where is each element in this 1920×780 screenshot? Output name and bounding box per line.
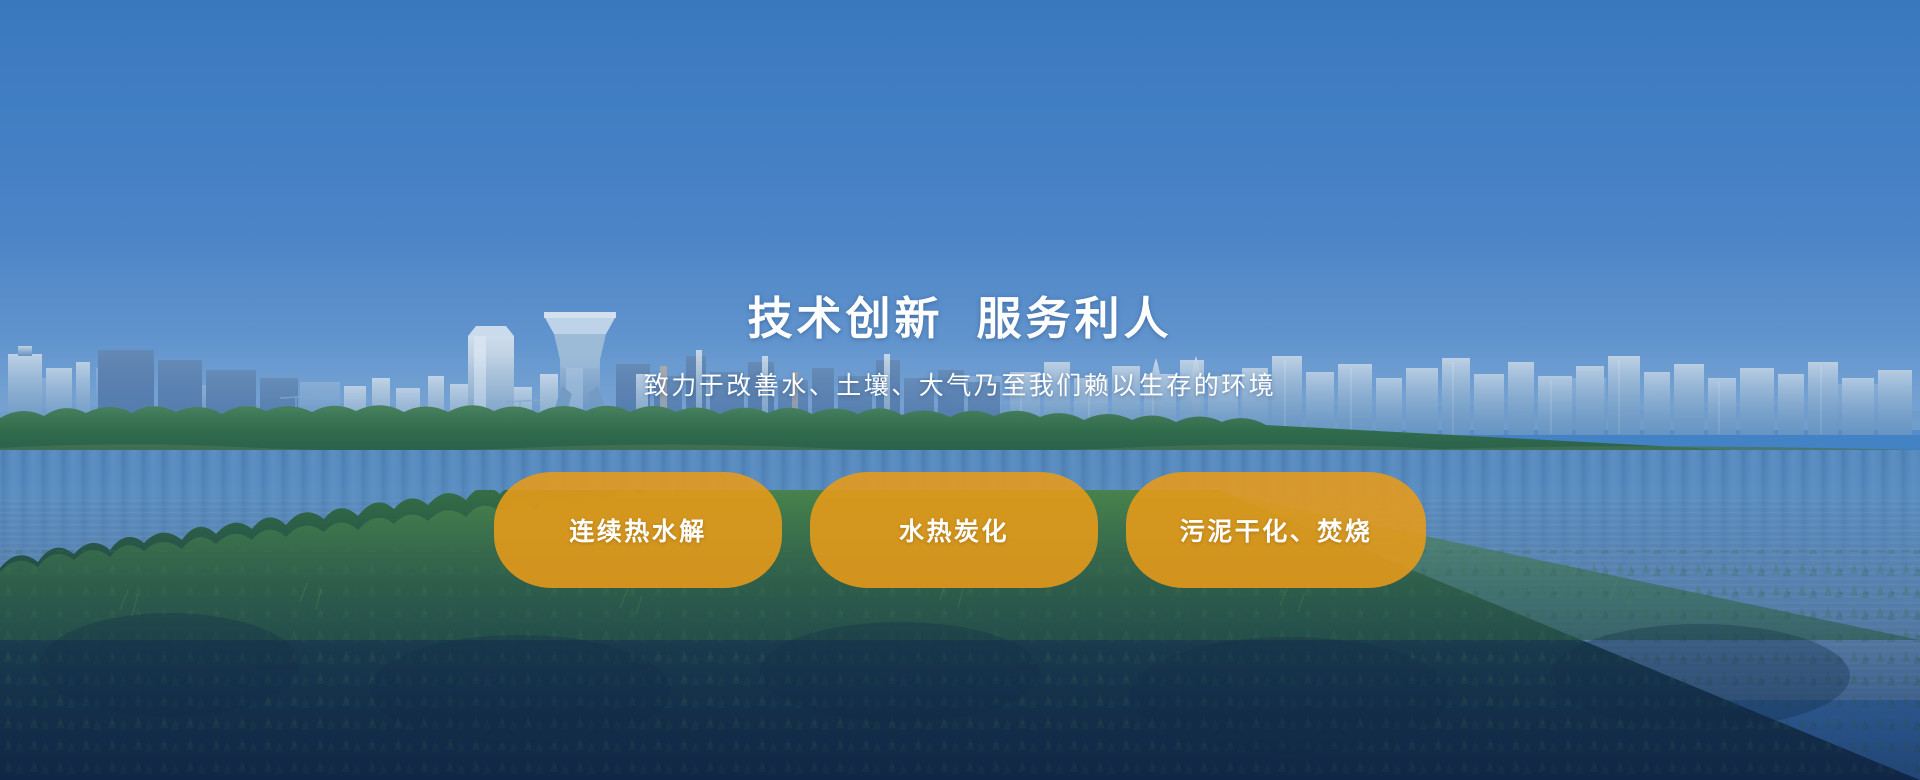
cta-button-hydrothermal-carbonization[interactable]: 水热炭化 [810,472,1098,588]
cta-button-sludge-drying-incineration[interactable]: 污泥干化、焚烧 [1126,472,1426,588]
cta-button-row: 连续热水解 水热炭化 污泥干化、焚烧 [0,472,1920,588]
hero-banner: 技术创新 服务利人 致力于改善水、土壤、大气乃至我们赖以生存的环境 连续热水解 … [0,0,1920,780]
cta-button-continuous-thermal-hydrolysis[interactable]: 连续热水解 [494,472,782,588]
